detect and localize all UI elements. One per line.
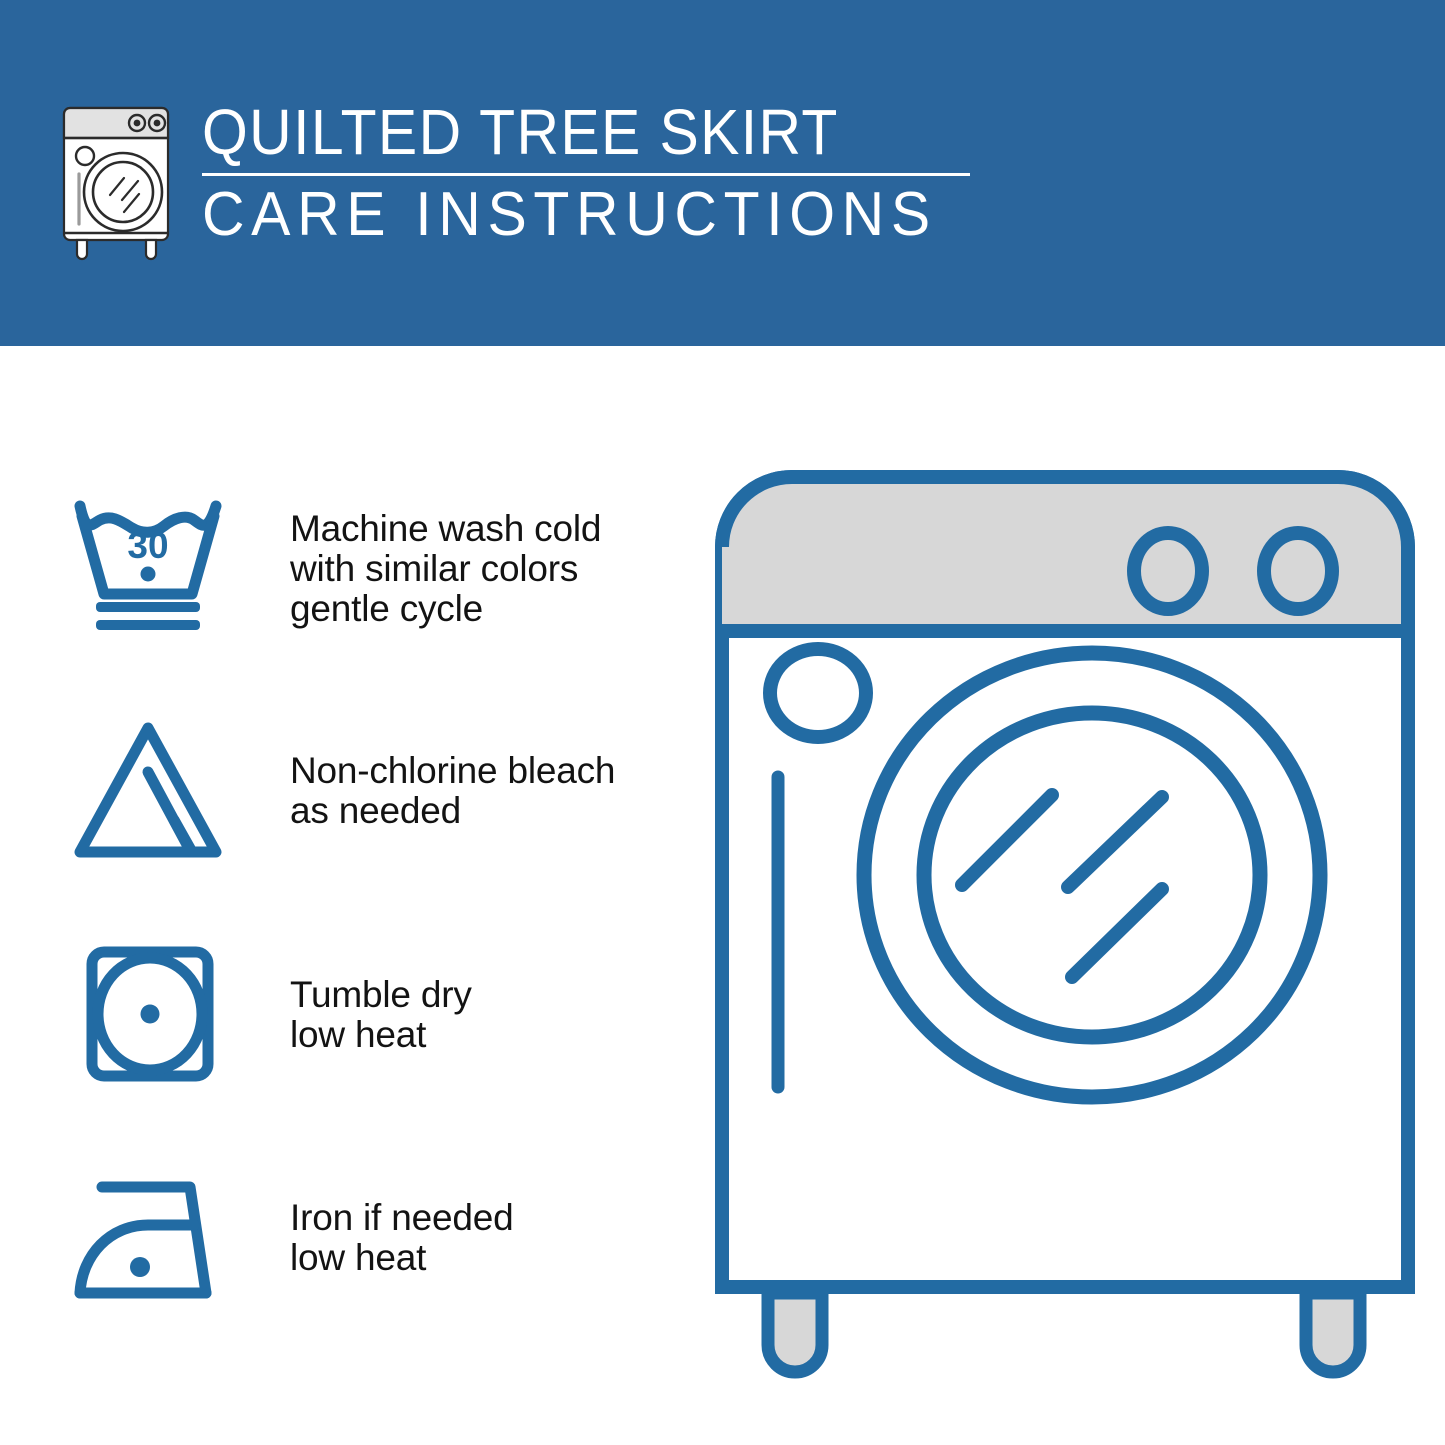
knob-right: [1264, 533, 1332, 609]
header-titles: QUILTED TREE SKIRT CARE INSTRUCTIONS: [202, 98, 975, 248]
leg-right: [1306, 1293, 1360, 1372]
page-title: QUILTED TREE SKIRT: [202, 98, 914, 166]
non-chlorine-bleach-triangle-icon: [70, 716, 230, 866]
care-label-bleach: Non-chlorine bleach as needed: [290, 751, 615, 831]
care-label-machine-wash: Machine wash cold with similar colors ge…: [290, 509, 601, 629]
care-row-bleach: Non-chlorine bleach as needed: [70, 716, 690, 866]
low-heat-dot: [130, 1257, 150, 1277]
leg-left: [768, 1293, 822, 1372]
care-row-iron: Iron if needed low heat: [70, 1163, 690, 1313]
gentle-cycle-dot: [141, 567, 156, 582]
care-label-tumble-dry: Tumble dry low heat: [290, 975, 472, 1055]
low-heat-dot: [141, 1005, 160, 1024]
header-content: QUILTED TREE SKIRT CARE INSTRUCTIONS: [58, 98, 975, 262]
washing-machine-illustration: [700, 455, 1430, 1385]
tumble-dry-low-heat-icon: [70, 940, 230, 1090]
knob-left: [1134, 533, 1202, 609]
care-row-tumble-dry: Tumble dry low heat: [70, 940, 690, 1090]
page-subtitle: CARE INSTRUCTIONS: [202, 182, 937, 248]
wash-temperature-label: 30: [127, 525, 168, 566]
header-banner: QUILTED TREE SKIRT CARE INSTRUCTIONS: [0, 0, 1445, 346]
care-row-machine-wash: 30 Machine wash cold with similar colors…: [70, 494, 690, 644]
title-divider: [202, 173, 970, 176]
iron-low-heat-icon: [70, 1163, 230, 1313]
washing-machine-icon: [58, 102, 180, 262]
care-instructions-list: 30 Machine wash cold with similar colors…: [0, 346, 700, 1445]
detergent-port: [770, 649, 866, 737]
care-label-iron: Iron if needed low heat: [290, 1198, 513, 1278]
machine-wash-30-icon: 30: [70, 494, 230, 644]
